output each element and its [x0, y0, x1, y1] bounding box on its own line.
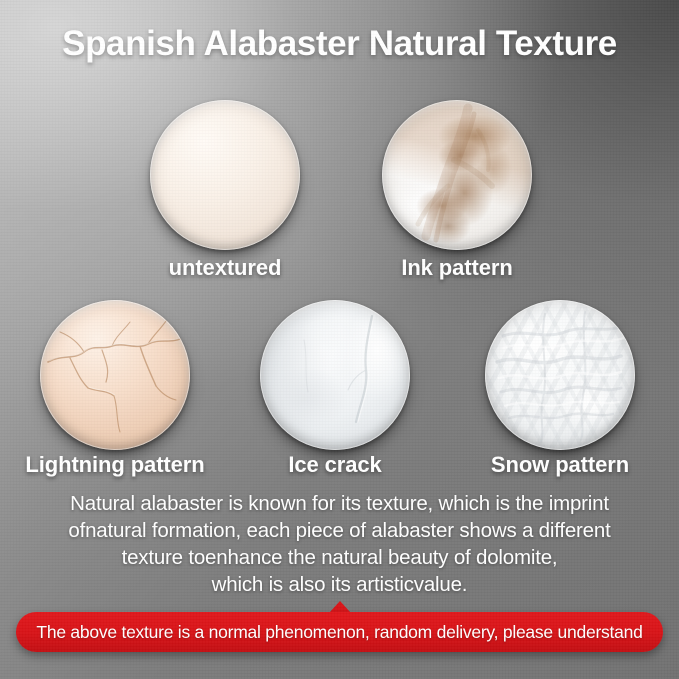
swatch-label-ink-pattern: Ink pattern	[382, 255, 532, 281]
swatch-label-snow-pattern: Snow pattern	[470, 452, 650, 478]
swatch-label-lightning-pattern: Lightning pattern	[15, 452, 215, 478]
swatch-lightning-pattern[interactable]	[40, 300, 190, 450]
swatch-ice-crack[interactable]	[260, 300, 410, 450]
swatch-snow-pattern[interactable]	[485, 300, 635, 450]
ink-vein-texture	[382, 100, 532, 250]
description-line-2: ofnatural formation, each piece of alaba…	[14, 517, 665, 544]
swatch-label-untextured: untextured	[150, 255, 300, 281]
disc-inner-shading	[150, 100, 300, 250]
snow-streak-texture	[485, 300, 635, 450]
disc-rim	[150, 100, 300, 250]
product-infographic: Spanish Alabaster Natural Texture untext…	[0, 0, 679, 679]
notice-banner-text: The above texture is a normal phenomenon…	[36, 622, 642, 643]
ice-crack-texture	[260, 300, 410, 450]
swatch-label-ice-crack: Ice crack	[260, 452, 410, 478]
notice-banner: The above texture is a normal phenomenon…	[16, 612, 663, 652]
notice-banner-wrapper: The above texture is a normal phenomenon…	[16, 612, 663, 652]
description-line-3: texture toenhance the natural beauty of …	[14, 544, 665, 571]
description-line-1: Natural alabaster is known for its textu…	[14, 490, 665, 517]
description-text: Natural alabaster is known for its textu…	[14, 490, 665, 598]
lightning-crack-texture	[40, 300, 190, 450]
swatch-untextured[interactable]	[150, 100, 300, 250]
page-title: Spanish Alabaster Natural Texture	[0, 24, 679, 64]
swatch-ink-pattern[interactable]	[382, 100, 532, 250]
description-line-4: which is also its artisticvalue.	[14, 571, 665, 598]
